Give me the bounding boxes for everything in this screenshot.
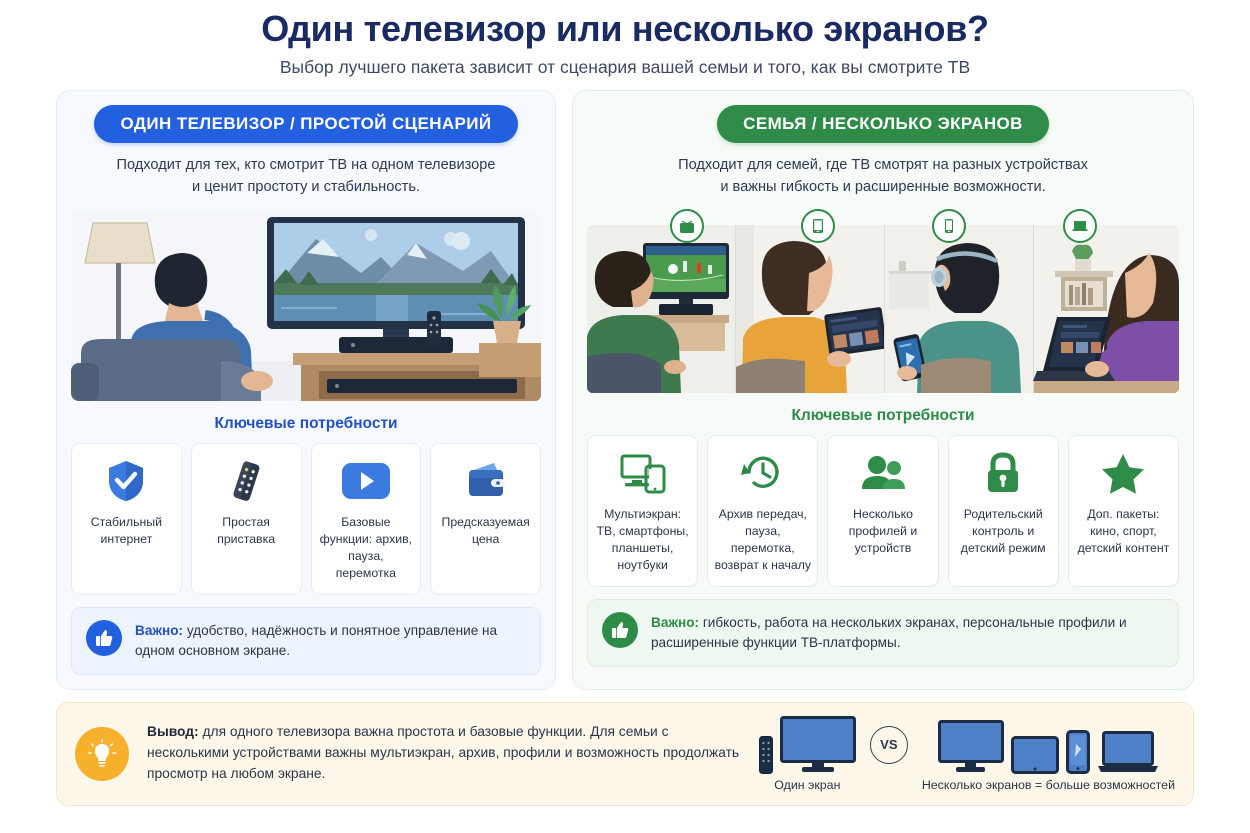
- header: Один телевизор или несколько экранов? Вы…: [0, 0, 1250, 78]
- callout-important-single-tv: Важно: удобство, надёжность и понятное у…: [71, 607, 541, 675]
- callout-body: гибкость, работа на нескольких экранах, …: [651, 615, 1127, 650]
- single-screen-devices: [759, 716, 856, 774]
- multi-screen-devices: [938, 716, 1159, 774]
- panel-badge-family: СЕМЬЯ / НЕСКОЛЬКО ЭКРАНОВ: [717, 105, 1049, 143]
- need-card-predictable-price[interactable]: Предсказуемая цена: [430, 443, 541, 595]
- need-card-profiles[interactable]: Несколько профилей и устройств: [827, 435, 938, 587]
- callout-keyword: Важно:: [135, 623, 183, 638]
- needs-cards-single-tv: Стабильный интернет: [71, 443, 541, 595]
- conclusion-body: для одного телевизора важна простота и б…: [147, 724, 739, 781]
- wallet-icon: [464, 458, 508, 504]
- remote-control-icon: [226, 458, 266, 504]
- play-button-icon: [340, 458, 392, 504]
- single-screen-group: Один экран: [759, 716, 856, 792]
- panel-lede-single-tv: Подходит для тех, кто смотрит ТВ на одно…: [71, 155, 541, 199]
- need-card-basic-functions[interactable]: Базовые функции: архив, пауза, перемотка: [311, 443, 422, 595]
- need-card-label: Базовые функции: архив, пауза, перемотка: [318, 514, 415, 582]
- history-clock-icon: [741, 450, 785, 496]
- lede-line-2: и ценит простоту и стабильность.: [192, 179, 420, 195]
- need-card-label: Доп. пакеты: кино, спорт, детский контен…: [1075, 506, 1172, 557]
- illustration-family-multiscreen: [587, 225, 1179, 393]
- single-screen-label: Один экран: [774, 778, 840, 792]
- need-card-label: Предсказуемая цена: [437, 514, 534, 548]
- need-card-multiscreen[interactable]: Мультиэкран: ТВ, смартфоны, планшеты, но…: [587, 435, 698, 587]
- users-profiles-icon: [860, 450, 906, 496]
- illustration-single-tv-room: [71, 211, 541, 401]
- panel-badge-single-tv: ОДИН ТЕЛЕВИЗОР / ПРОСТОЙ СЦЕНАРИЙ: [94, 105, 517, 143]
- callout-keyword: Важно:: [651, 615, 699, 630]
- lightbulb-icon: [75, 727, 129, 781]
- tv-screen-icon: [780, 716, 856, 774]
- need-card-simple-settop-box[interactable]: Простая приставка: [191, 443, 302, 595]
- smartphone-icon: [1066, 730, 1090, 774]
- tv-screen-icon: [938, 720, 1004, 774]
- multi-screen-group: Несколько экранов = больше возможностей: [922, 716, 1175, 792]
- thumbs-up-icon: [86, 620, 122, 656]
- needs-title-single-tv: Ключевые потребности: [71, 415, 541, 433]
- need-card-label: Родительский контроль и детский режим: [955, 506, 1052, 557]
- lede-line-1: Подходит для тех, кто смотрит ТВ на одно…: [117, 157, 496, 173]
- conclusion-bar: Вывод: для одного телевизора важна прост…: [56, 702, 1194, 806]
- callout-body: удобство, надёжность и понятное управлен…: [135, 623, 497, 658]
- lede-line-2: и важны гибкость и расширенные возможнос…: [720, 179, 1045, 195]
- needs-title-family: Ключевые потребности: [587, 407, 1179, 425]
- page-subtitle: Выбор лучшего пакета зависит от сценария…: [0, 57, 1250, 78]
- laptop-icon: [1097, 730, 1159, 774]
- need-card-label: Простая приставка: [198, 514, 295, 548]
- need-card-label: Стабильный интернет: [78, 514, 175, 548]
- panel-single-tv: ОДИН ТЕЛЕВИЗОР / ПРОСТОЙ СЦЕНАРИЙ Подход…: [56, 90, 556, 689]
- comparison-columns: ОДИН ТЕЛЕВИЗОР / ПРОСТОЙ СЦЕНАРИЙ Подход…: [0, 78, 1250, 689]
- star-icon: [1101, 450, 1145, 496]
- need-card-extra-packages[interactable]: Доп. пакеты: кино, спорт, детский контен…: [1068, 435, 1179, 587]
- shield-check-icon: [106, 458, 146, 504]
- conclusion-text: Вывод: для одного телевизора важна прост…: [147, 722, 741, 785]
- multiscreen-icon: [620, 450, 666, 496]
- need-card-label: Архив передач, пауза, перемотка, возврат…: [714, 506, 811, 574]
- remote-control-icon: [759, 736, 773, 774]
- conclusion-keyword: Вывод:: [147, 724, 199, 739]
- lede-line-1: Подходит для семей, где ТВ смотрят на ра…: [678, 157, 1088, 173]
- illustration-wrap-single-tv: [71, 211, 541, 401]
- need-card-parental-control[interactable]: Родительский контроль и детский режим: [948, 435, 1059, 587]
- illustration-wrap-family: [587, 225, 1179, 393]
- lock-icon: [984, 450, 1022, 496]
- panel-family-multiscreen: СЕМЬЯ / НЕСКОЛЬКО ЭКРАНОВ Подходит для с…: [572, 90, 1194, 689]
- callout-important-family: Важно: гибкость, работа на нескольких эк…: [587, 599, 1179, 667]
- need-card-label: Несколько профилей и устройств: [834, 506, 931, 557]
- needs-cards-family: Мультиэкран: ТВ, смартфоны, планшеты, но…: [587, 435, 1179, 587]
- need-card-label: Мультиэкран: ТВ, смартфоны, планшеты, но…: [594, 506, 691, 574]
- thumbs-up-icon: [602, 612, 638, 648]
- page-title: Один телевизор или несколько экранов?: [0, 8, 1250, 49]
- tablet-icon: [1011, 736, 1059, 774]
- need-card-archive[interactable]: Архив передач, пауза, перемотка, возврат…: [707, 435, 818, 587]
- infographic-page: Один телевизор или несколько экранов? Вы…: [0, 0, 1250, 833]
- callout-text: Важно: гибкость, работа на нескольких эк…: [651, 612, 1164, 654]
- panel-lede-family: Подходит для семей, где ТВ смотрят на ра…: [587, 155, 1179, 199]
- multi-screen-label: Несколько экранов = больше возможностей: [922, 778, 1175, 792]
- screen-comparison-graphic: Один экран VS: [759, 716, 1175, 792]
- vs-badge: VS: [870, 726, 908, 764]
- need-card-stable-internet[interactable]: Стабильный интернет: [71, 443, 182, 595]
- callout-text: Важно: удобство, надёжность и понятное у…: [135, 620, 526, 662]
